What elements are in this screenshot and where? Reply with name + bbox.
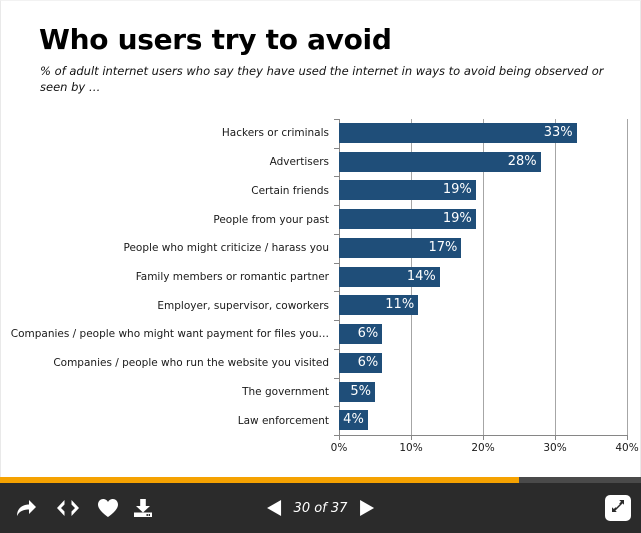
category-label: Companies / people who run the website y… <box>53 357 329 369</box>
y-tick-mark <box>334 148 339 149</box>
category-label: Certain friends <box>251 185 329 197</box>
bar-row: 19% <box>339 176 627 205</box>
bar-row: 28% <box>339 148 627 177</box>
x-tick-mark <box>339 435 340 440</box>
y-tick-mark <box>334 435 339 436</box>
bar-value-label: 19% <box>443 208 476 229</box>
like-button[interactable] <box>92 492 124 524</box>
previous-slide-button[interactable] <box>264 498 284 518</box>
y-tick-mark <box>334 378 339 379</box>
x-tick-label: 40% <box>615 442 638 454</box>
y-tick-mark <box>334 263 339 264</box>
player-toolbar: 30 of 37 <box>0 483 641 533</box>
like-heart-icon <box>97 498 119 518</box>
y-tick-mark <box>334 291 339 292</box>
y-tick-mark <box>334 119 339 120</box>
page-title: Who users try to avoid <box>39 23 392 56</box>
page-navigation: 30 of 37 <box>264 492 378 524</box>
bar-row: 6% <box>339 349 627 378</box>
bar-value-label: 14% <box>407 266 440 287</box>
download-button[interactable] <box>127 492 159 524</box>
category-axis-labels: Hackers or criminalsAdvertisersCertain f… <box>1 119 335 435</box>
share-button[interactable] <box>10 492 42 524</box>
bar-value-label: 11% <box>385 294 418 315</box>
embed-code-icon <box>55 499 81 517</box>
bar-value-label: 28% <box>508 151 541 172</box>
y-tick-mark <box>334 205 339 206</box>
x-tick-mark <box>483 435 484 440</box>
x-tick-label: 30% <box>543 442 566 454</box>
category-label: Employer, supervisor, coworkers <box>157 300 329 312</box>
gridline <box>627 119 628 435</box>
x-tick-label: 0% <box>331 442 348 454</box>
bar-value-label: 33% <box>544 122 577 143</box>
bar-value-label: 19% <box>443 179 476 200</box>
y-tick-mark <box>334 176 339 177</box>
page-counter: 30 of 37 <box>294 501 348 516</box>
expand-arrows-icon <box>610 498 626 519</box>
bar-value-label: 4% <box>343 409 368 430</box>
bar-row: 33% <box>339 119 627 148</box>
bar-row: 6% <box>339 320 627 349</box>
next-slide-button[interactable] <box>357 498 377 518</box>
bar-value-label: 6% <box>358 323 383 344</box>
bar-value-label: 5% <box>350 381 375 402</box>
x-tick-mark <box>627 435 628 440</box>
x-tick-label: 20% <box>471 442 494 454</box>
bar-row: 17% <box>339 234 627 263</box>
y-tick-mark <box>334 406 339 407</box>
x-tick-label: 10% <box>399 442 422 454</box>
embed-code-button[interactable] <box>52 492 84 524</box>
y-tick-mark <box>334 320 339 321</box>
bar-row: 14% <box>339 263 627 292</box>
category-label: Family members or romantic partner <box>136 271 329 283</box>
plot-area: 33%28%19%19%17%14%11%6%6%5%4% <box>339 119 627 435</box>
category-label: People who might criticize / harass you <box>124 242 329 254</box>
bar <box>339 123 577 143</box>
x-tick-mark <box>411 435 412 440</box>
category-label: Advertisers <box>270 156 329 168</box>
y-tick-mark <box>334 234 339 235</box>
category-label: Companies / people who might want paymen… <box>11 328 329 340</box>
slide-canvas: Who users try to avoid % of adult intern… <box>0 0 641 477</box>
category-label: People from your past <box>213 214 329 226</box>
category-label: Law enforcement <box>238 415 329 427</box>
bar-row: 5% <box>339 378 627 407</box>
bar-row: 11% <box>339 291 627 320</box>
category-label: Hackers or criminals <box>222 127 329 139</box>
bar-value-label: 6% <box>358 352 383 373</box>
share-icon <box>15 498 37 518</box>
x-tick-mark <box>555 435 556 440</box>
bar-chart: Hackers or criminalsAdvertisersCertain f… <box>1 114 641 459</box>
category-label: The government <box>242 386 329 398</box>
y-tick-mark <box>334 349 339 350</box>
bar-value-label: 17% <box>428 237 461 258</box>
slide-subtitle: % of adult internet users who say they h… <box>40 63 615 95</box>
bar-row: 4% <box>339 406 627 435</box>
download-icon <box>132 498 154 518</box>
bar-row: 19% <box>339 205 627 234</box>
fullscreen-button[interactable] <box>605 495 631 521</box>
